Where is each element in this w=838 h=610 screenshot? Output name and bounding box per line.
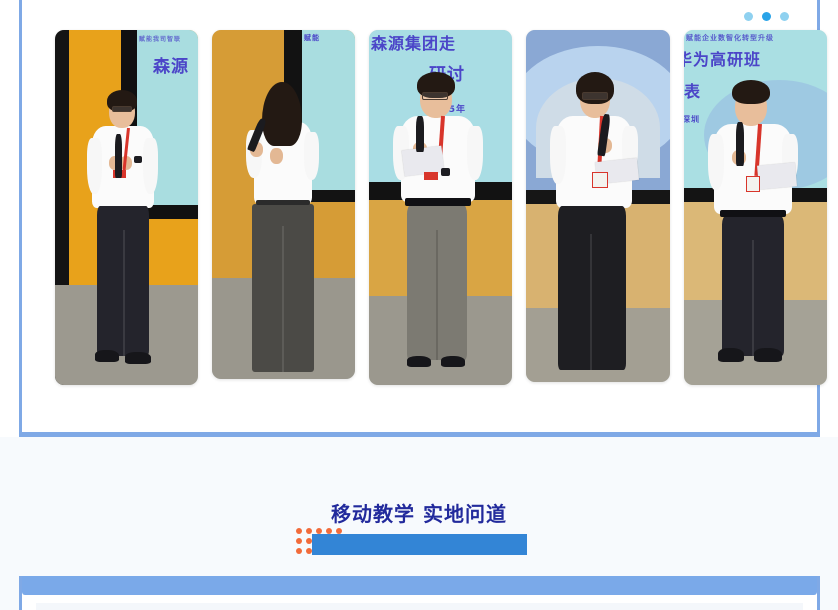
- photo-4-legs: [558, 206, 626, 370]
- photo-5-shoe-left: [718, 348, 744, 362]
- dot-r2c1: [296, 538, 302, 544]
- photo-4-glasses: [582, 92, 608, 100]
- photo-3-shoe-left: [407, 356, 431, 367]
- next-slide-header-bar: [22, 576, 817, 595]
- photo-gallery-card: 赋能我司智联 森源: [19, 0, 820, 437]
- photo-5-microphone: [736, 122, 744, 166]
- next-slide-content-placeholder: [36, 603, 803, 610]
- photo-3-subject: [369, 30, 512, 385]
- carousel-dot-1[interactable]: [744, 12, 753, 21]
- dot-r3c1: [296, 548, 302, 554]
- photo-2-subject: [212, 30, 355, 379]
- photo-2-right-arm: [304, 132, 319, 180]
- photo-1-shoe-right: [125, 352, 151, 364]
- gallery-photo-3[interactable]: 森源集团走 研讨 2025年: [369, 30, 512, 385]
- gallery-photo-5[interactable]: 赋能企业数智化转型升级 华为高研班 表 深圳: [684, 30, 827, 385]
- photo-5-belt: [720, 210, 786, 217]
- gallery-photo-4[interactable]: [526, 30, 670, 382]
- photo-1-watch: [134, 156, 142, 163]
- section-title: 移动教学 实地问道: [331, 498, 507, 527]
- photo-2-hair: [262, 82, 302, 146]
- photo-3-belt: [405, 198, 471, 206]
- section-heading: 移动教学 实地问道: [0, 498, 838, 527]
- photo-1-shoe-left: [95, 350, 119, 362]
- photo-1-glasses: [112, 106, 132, 112]
- photo-5-hair: [732, 80, 770, 104]
- photo-1-microphone: [115, 134, 122, 178]
- photo-1-subject: [55, 30, 198, 385]
- photo-3-microphone: [416, 116, 424, 152]
- photo-2-scene: 赋能: [212, 30, 355, 379]
- photo-strip: 赋能我司智联 森源: [22, 0, 817, 400]
- photo-2-hand-right: [270, 148, 283, 164]
- photo-1-right-arm: [143, 138, 158, 194]
- gallery-photo-2[interactable]: 赋能: [212, 30, 355, 379]
- photo-2-leg-split: [282, 226, 284, 372]
- photo-5-scene: 赋能企业数智化转型升级 华为高研班 表 深圳: [684, 30, 827, 385]
- photo-3-watch: [441, 168, 450, 176]
- photo-1-scene: 赋能我司智联 森源: [55, 30, 198, 385]
- photo-5-shoe-right: [754, 348, 782, 362]
- carousel-dot-2-active[interactable]: [762, 12, 771, 21]
- blue-accent-bar: [312, 534, 527, 555]
- photo-4-subject: [526, 30, 670, 382]
- photo-3-scene: 森源集团走 研讨 2025年: [369, 30, 512, 385]
- photo-3-leg-split: [436, 230, 438, 360]
- photo-5-leg-split: [752, 240, 754, 356]
- photo-5-paper: [757, 162, 797, 189]
- photo-3-right-arm: [467, 126, 483, 180]
- photo-4-badge: [592, 172, 608, 188]
- photo-5-subject: [684, 30, 827, 385]
- photo-1-left-arm: [87, 138, 102, 194]
- gallery-photo-1[interactable]: 赋能我司智联 森源: [55, 30, 198, 385]
- carousel-dot-3[interactable]: [780, 12, 789, 21]
- photo-3-glasses: [422, 92, 448, 100]
- dot-r1c1: [296, 528, 302, 534]
- section-accent-group: [296, 528, 536, 556]
- photo-4-scene: [526, 30, 670, 382]
- next-slide-card[interactable]: [19, 576, 820, 610]
- photo-3-badge: [424, 172, 438, 180]
- photo-4-leg-split: [590, 234, 592, 370]
- photo-1-leg-split: [123, 230, 125, 356]
- photo-4-left-arm: [550, 126, 566, 184]
- photo-5-badge: [746, 176, 760, 192]
- photo-3-shoe-right: [441, 356, 465, 367]
- photo-5-left-arm: [708, 134, 724, 190]
- carousel-pagination[interactable]: [744, 12, 789, 21]
- photo-2-waistband: [256, 200, 310, 205]
